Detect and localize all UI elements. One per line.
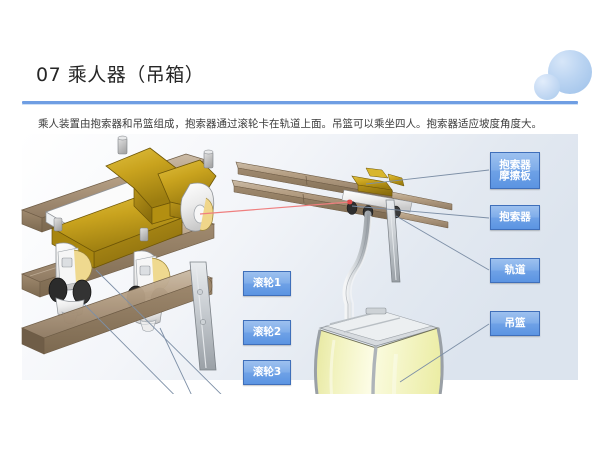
blue-circle-large-icon bbox=[548, 50, 592, 94]
label-roller-2[interactable]: 滚轮2 bbox=[243, 320, 291, 345]
header-decoration bbox=[520, 38, 600, 104]
label-cabin[interactable]: 吊篮 bbox=[490, 311, 540, 336]
label-roller-3[interactable]: 滚轮3 bbox=[243, 360, 291, 385]
blue-circle-small-icon bbox=[534, 74, 560, 100]
page-title: 07 乘人器（吊箱） bbox=[36, 60, 204, 87]
title-divider-shadow bbox=[22, 104, 578, 105]
slide-root: 07 乘人器（吊箱） 乘人装置由抱索器和吊篮组成，抱索器通过滚轮卡在轨道上面。吊… bbox=[0, 0, 600, 450]
label-track[interactable]: 轨道 bbox=[490, 258, 540, 283]
label-roller-1[interactable]: 滚轮1 bbox=[243, 271, 291, 296]
subtitle-text: 乘人装置由抱索器和吊篮组成，抱索器通过滚轮卡在轨道上面。吊篮可以乘坐四人。抱索器… bbox=[38, 117, 583, 132]
label-grip-friction-plate[interactable]: 抱索器 摩擦板 bbox=[490, 152, 540, 189]
label-grip[interactable]: 抱索器 bbox=[490, 205, 540, 230]
label-line-2: 摩擦板 bbox=[499, 171, 531, 182]
